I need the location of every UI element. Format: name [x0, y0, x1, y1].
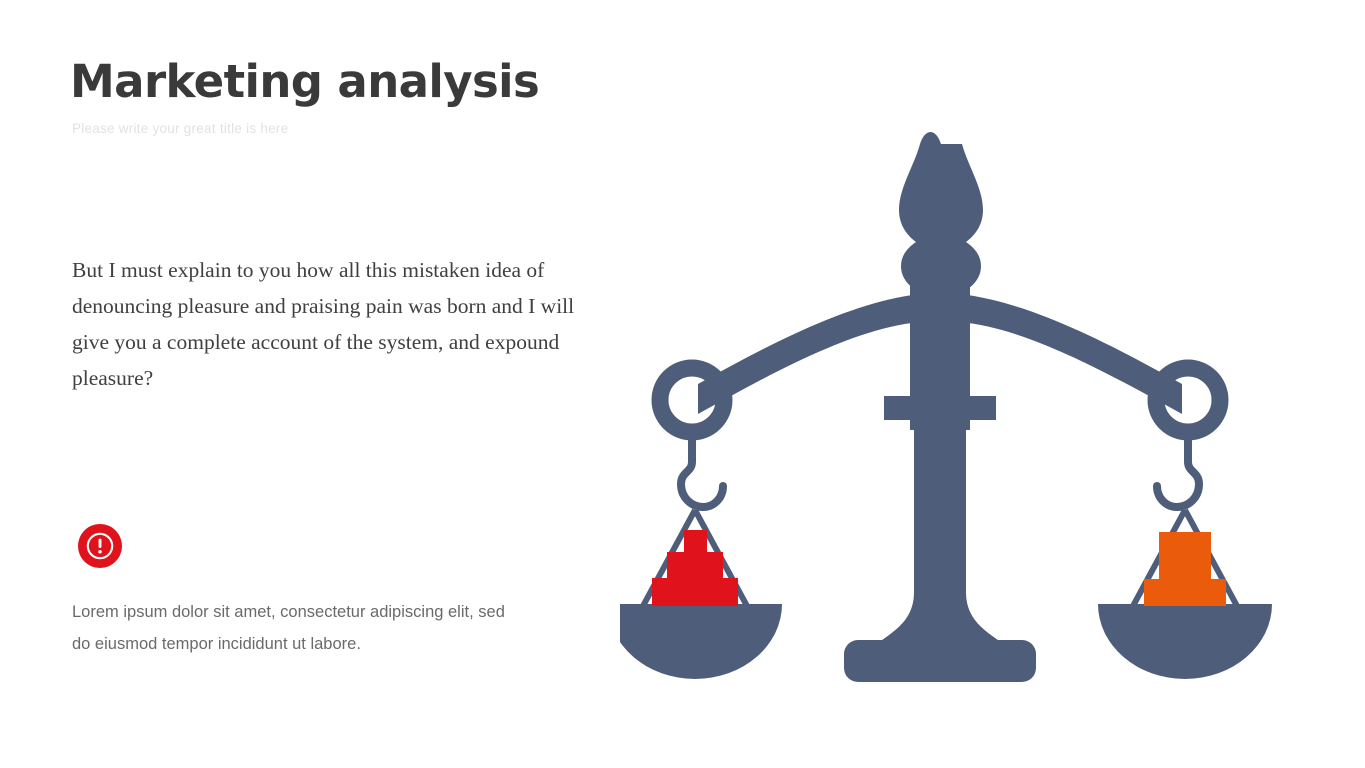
left-weight-block-top [684, 530, 707, 553]
scale-shaft [914, 418, 966, 616]
right-pan [1098, 604, 1272, 679]
scale-foot-flare [874, 592, 1006, 646]
slide-canvas: Marketing analysis Please write your gre… [0, 0, 1365, 768]
balance-scale-illustration [620, 132, 1300, 697]
alert-badge [78, 524, 122, 568]
left-pan [620, 604, 782, 679]
left-scale-arm [620, 368, 782, 679]
exclamation-circle-icon [78, 524, 122, 568]
left-weight-block-bottom [652, 578, 738, 606]
page-subtitle: Please write your great title is here [72, 121, 590, 136]
right-weight-block-top [1159, 532, 1211, 580]
scale-finial [899, 132, 983, 304]
scale-base [844, 640, 1036, 682]
page-title: Marketing analysis [70, 58, 590, 105]
title-block: Marketing analysis Please write your gre… [70, 58, 590, 136]
left-hook-icon [681, 432, 723, 507]
left-weight-block-middle [667, 552, 723, 579]
right-scale-arm [1098, 368, 1272, 679]
note-paragraph: Lorem ipsum dolor sit amet, consectetur … [72, 596, 512, 660]
body-paragraph: But I must explain to you how all this m… [72, 252, 582, 396]
right-weight-block-bottom [1144, 579, 1226, 606]
right-hook-icon [1157, 432, 1199, 507]
scale-stand [844, 132, 1036, 682]
